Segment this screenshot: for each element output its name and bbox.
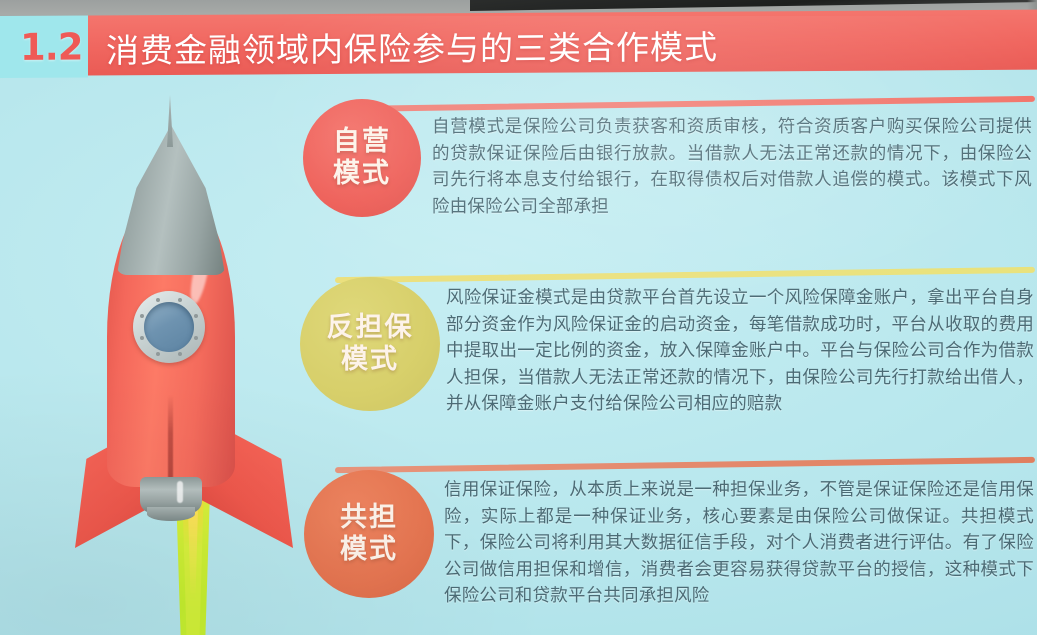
porthole-rivet xyxy=(194,336,198,340)
mode-badge-self-operated[interactable]: 自营 模式 xyxy=(303,99,421,217)
porthole-rivet xyxy=(156,298,160,302)
mode-badge-line-2: 模式 xyxy=(333,158,391,190)
mode-description-counter-guarantee: 风险保证金模式是由贷款平台首先设立一个风险保障金账户，拿出平台自身部分资金作为风… xyxy=(446,285,1034,418)
mode-description-self-operated: 自营模式是保险公司负责获客和资质审核，符合资质客户购买保险公司提供的贷款保证保险… xyxy=(432,114,1032,220)
mode-description-shared-risk: 信用保证保险，从本质上来说是一种担保业务，不管是保证保险还是信用保险，实际上都是… xyxy=(444,477,1034,610)
porthole-rivet xyxy=(178,298,182,302)
mode-badge-line-2: 模式 xyxy=(340,534,398,566)
section-number: 1.2 xyxy=(20,25,83,68)
slide-header: 1.2 消费金融领域内保险参与的三类合作模式 xyxy=(0,10,1037,78)
rocket-engine-nozzle xyxy=(147,507,195,521)
porthole-rivet xyxy=(140,336,144,340)
rocket-illustration xyxy=(45,95,315,635)
porthole-rivet xyxy=(156,352,160,356)
rocket-porthole-glass xyxy=(144,302,194,352)
mode-badge-line-2: 模式 xyxy=(341,344,399,376)
slide-photo: 1.2 消费金融领域内保险参与的三类合作模式 自营 模式 自营模式是保险公司负责… xyxy=(0,0,1037,635)
rocket-engine-highlight xyxy=(177,481,183,503)
porthole-rivet xyxy=(194,314,198,318)
rocket-nose-cone xyxy=(117,125,225,275)
mode-badge-counter-guarantee[interactable]: 反担保 模式 xyxy=(300,277,440,411)
page-title: 消费金融领域内保险参与的三类合作模式 xyxy=(106,21,718,73)
porthole-rivet xyxy=(178,352,182,356)
mode-badge-line-1: 反担保 xyxy=(327,312,414,344)
mode-badge-shared-risk[interactable]: 共担 模式 xyxy=(304,470,434,598)
rocket-antenna xyxy=(167,95,173,147)
porthole-rivet xyxy=(140,314,144,318)
mode-badge-line-1: 自营 xyxy=(333,126,391,158)
rocket-body-crease xyxy=(168,395,173,490)
mode-badge-line-1: 共担 xyxy=(340,502,398,534)
